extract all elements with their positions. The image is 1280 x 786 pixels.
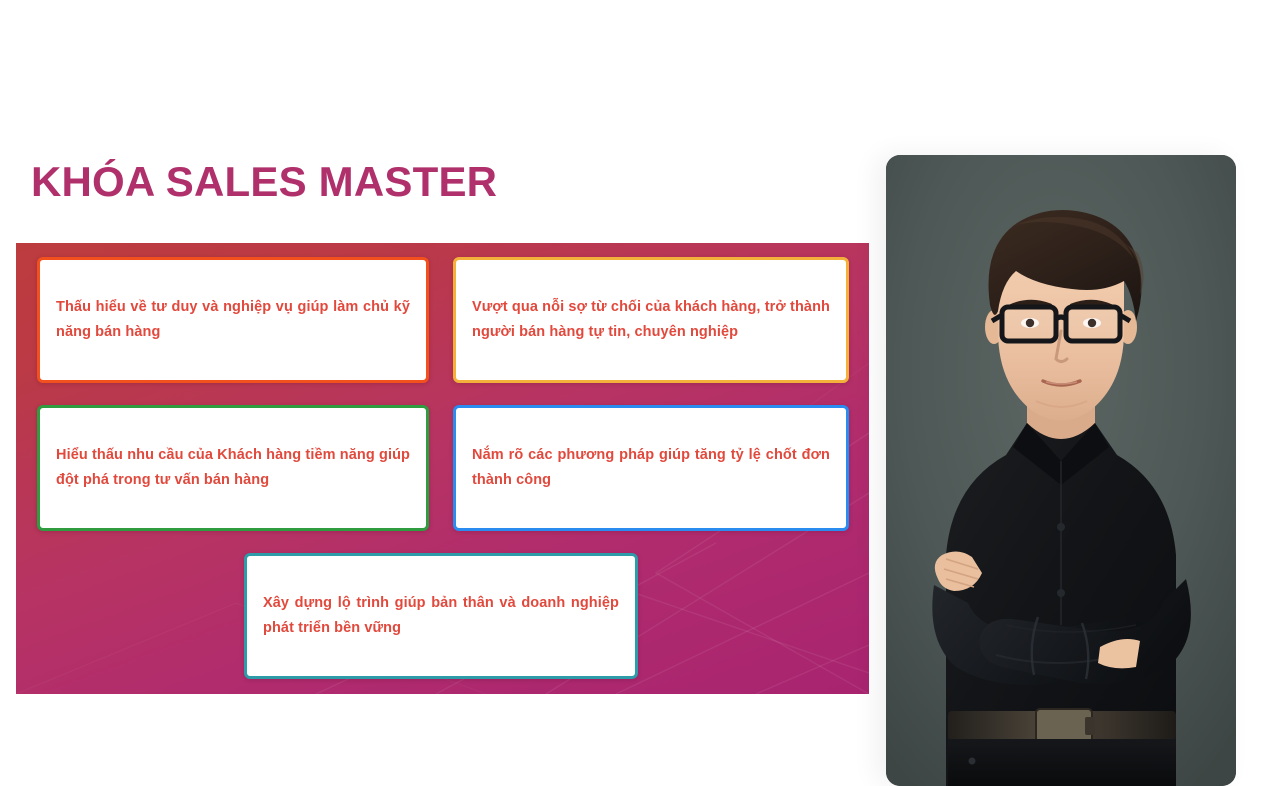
benefit-card-2-text: Vượt qua nỗi sợ từ chối của khách hàng, … — [456, 295, 846, 345]
benefit-card-1-text: Thấu hiểu về tư duy và nghiệp vụ giúp là… — [40, 295, 426, 345]
benefit-card-4-text: Nắm rõ các phương pháp giúp tăng tỷ lệ c… — [456, 443, 846, 493]
benefit-card-1[interactable]: Thấu hiểu về tư duy và nghiệp vụ giúp là… — [37, 257, 429, 383]
benefit-card-3-text: Hiểu thấu nhu cầu của Khách hàng tiềm nă… — [40, 443, 426, 493]
benefit-card-3[interactable]: Hiểu thấu nhu cầu của Khách hàng tiềm nă… — [37, 405, 429, 531]
benefit-card-5-text: Xây dựng lộ trình giúp bản thân và doanh… — [247, 591, 635, 641]
benefit-card-5[interactable]: Xây dựng lộ trình giúp bản thân và doanh… — [244, 553, 638, 679]
benefit-card-4[interactable]: Nắm rõ các phương pháp giúp tăng tỷ lệ c… — [453, 405, 849, 531]
instructor-portrait-photo — [886, 155, 1236, 786]
page-title: KHÓA SALES MASTER — [31, 156, 497, 208]
benefit-card-2[interactable]: Vượt qua nỗi sợ từ chối của khách hàng, … — [453, 257, 849, 383]
benefits-panel: Thấu hiểu về tư duy và nghiệp vụ giúp là… — [16, 243, 869, 694]
